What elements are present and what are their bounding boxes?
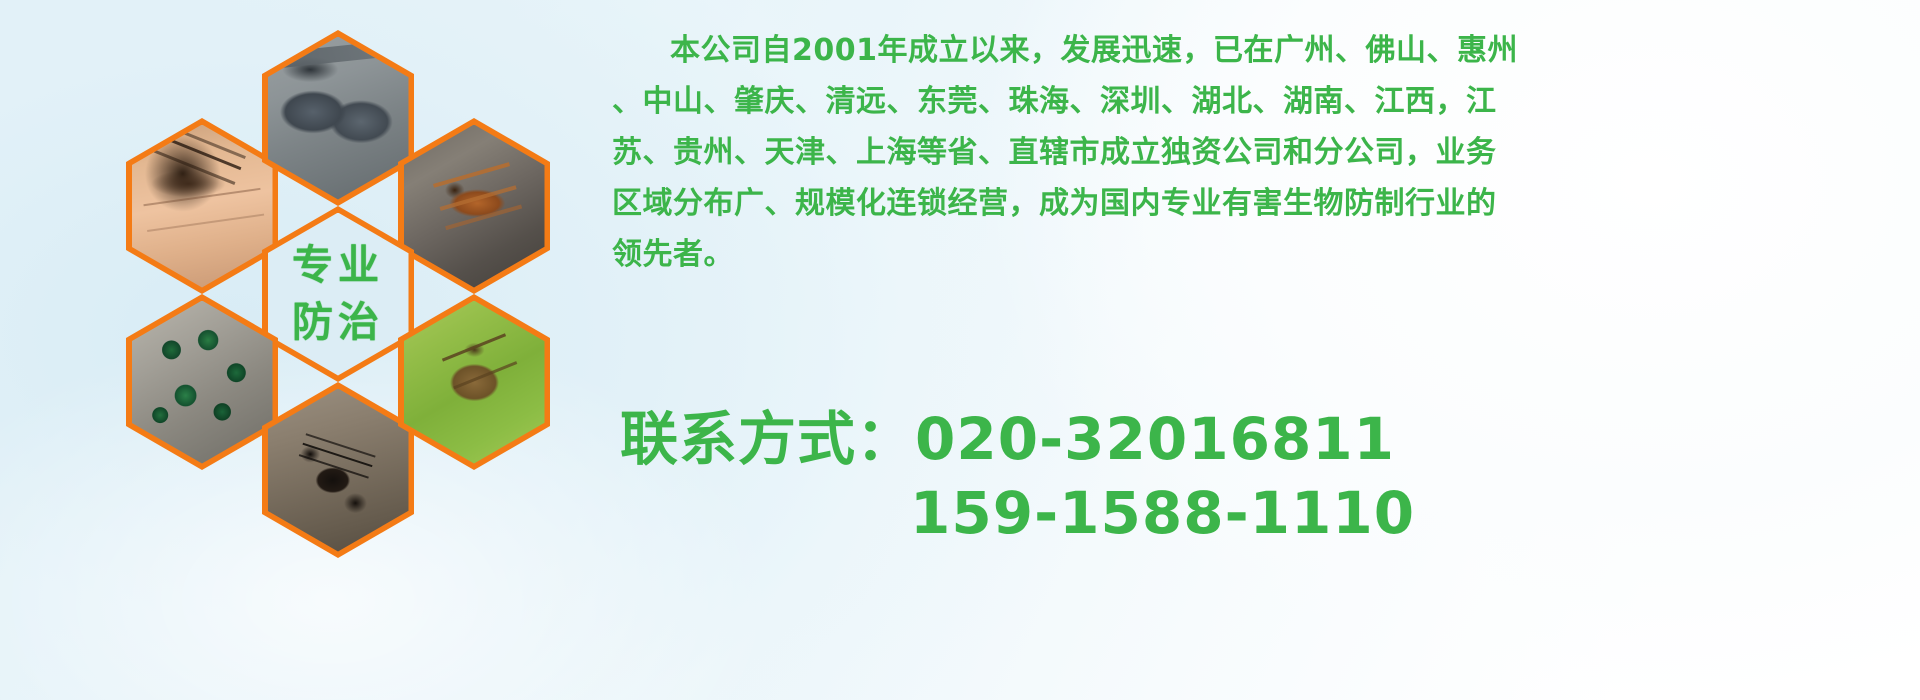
promo-banner: 专业 防治 本公司自2001年成立以来，发展迅速，已在广州、佛山、惠州 、中山、… bbox=[0, 0, 1920, 700]
hex-cell-stinkbug[interactable] bbox=[398, 294, 550, 470]
cockroach-icon bbox=[404, 125, 545, 288]
hex-image-stinkbug bbox=[404, 301, 545, 464]
hex-cell-mosquito[interactable] bbox=[126, 118, 278, 294]
intro-line-1: 本公司自2001年成立以来，发展迅速，已在广州、佛山、惠州 bbox=[612, 36, 1902, 66]
contact-block: 联系方式：020-32016811 159-1588-1110 bbox=[620, 402, 1820, 550]
stinkbug-icon bbox=[404, 301, 545, 464]
hex-cell-flies[interactable] bbox=[126, 294, 278, 470]
flies-icon bbox=[132, 301, 273, 464]
honeycomb-cluster: 专业 防治 bbox=[86, 12, 606, 582]
company-intro: 本公司自2001年成立以来，发展迅速，已在广州、佛山、惠州 、中山、肇庆、清远、… bbox=[612, 36, 1902, 291]
hex-cell-ant[interactable] bbox=[262, 382, 414, 558]
contact-label: 联系方式： bbox=[620, 405, 915, 473]
hex-label-panel: 专业 防治 bbox=[268, 213, 409, 376]
hex-image-flies bbox=[132, 301, 273, 464]
intro-line-3: 苏、贵州、天津、上海等省、直辖市成立独资公司和分公司，业务 bbox=[612, 138, 1902, 168]
phone-secondary[interactable]: 159-1588-1110 bbox=[620, 476, 1820, 550]
intro-line-5: 领先者。 bbox=[612, 240, 1902, 270]
hex-cell-rats[interactable] bbox=[262, 30, 414, 206]
mosquito-icon bbox=[132, 125, 273, 288]
hex-cell-cockroach[interactable] bbox=[398, 118, 550, 294]
phone-primary[interactable]: 020-32016811 bbox=[915, 405, 1395, 473]
hex-image-mosquito bbox=[132, 125, 273, 288]
hex-image-ant bbox=[268, 389, 409, 552]
contact-primary-line[interactable]: 联系方式：020-32016811 bbox=[620, 402, 1820, 476]
intro-line-2: 、中山、肇庆、清远、东莞、珠海、深圳、湖北、湖南、江西，江 bbox=[612, 87, 1902, 117]
hex-image-rats bbox=[268, 37, 409, 200]
rats-icon bbox=[268, 37, 409, 200]
hex-image-cockroach bbox=[404, 125, 545, 288]
hex-label-line-2: 防治 bbox=[292, 294, 384, 351]
hex-label-line-1: 专业 bbox=[292, 237, 384, 294]
intro-line-4: 区域分布广、规模化连锁经营，成为国内专业有害生物防制行业的 bbox=[612, 189, 1902, 219]
hex-cell-label: 专业 防治 bbox=[262, 206, 414, 382]
ant-icon bbox=[268, 389, 409, 552]
